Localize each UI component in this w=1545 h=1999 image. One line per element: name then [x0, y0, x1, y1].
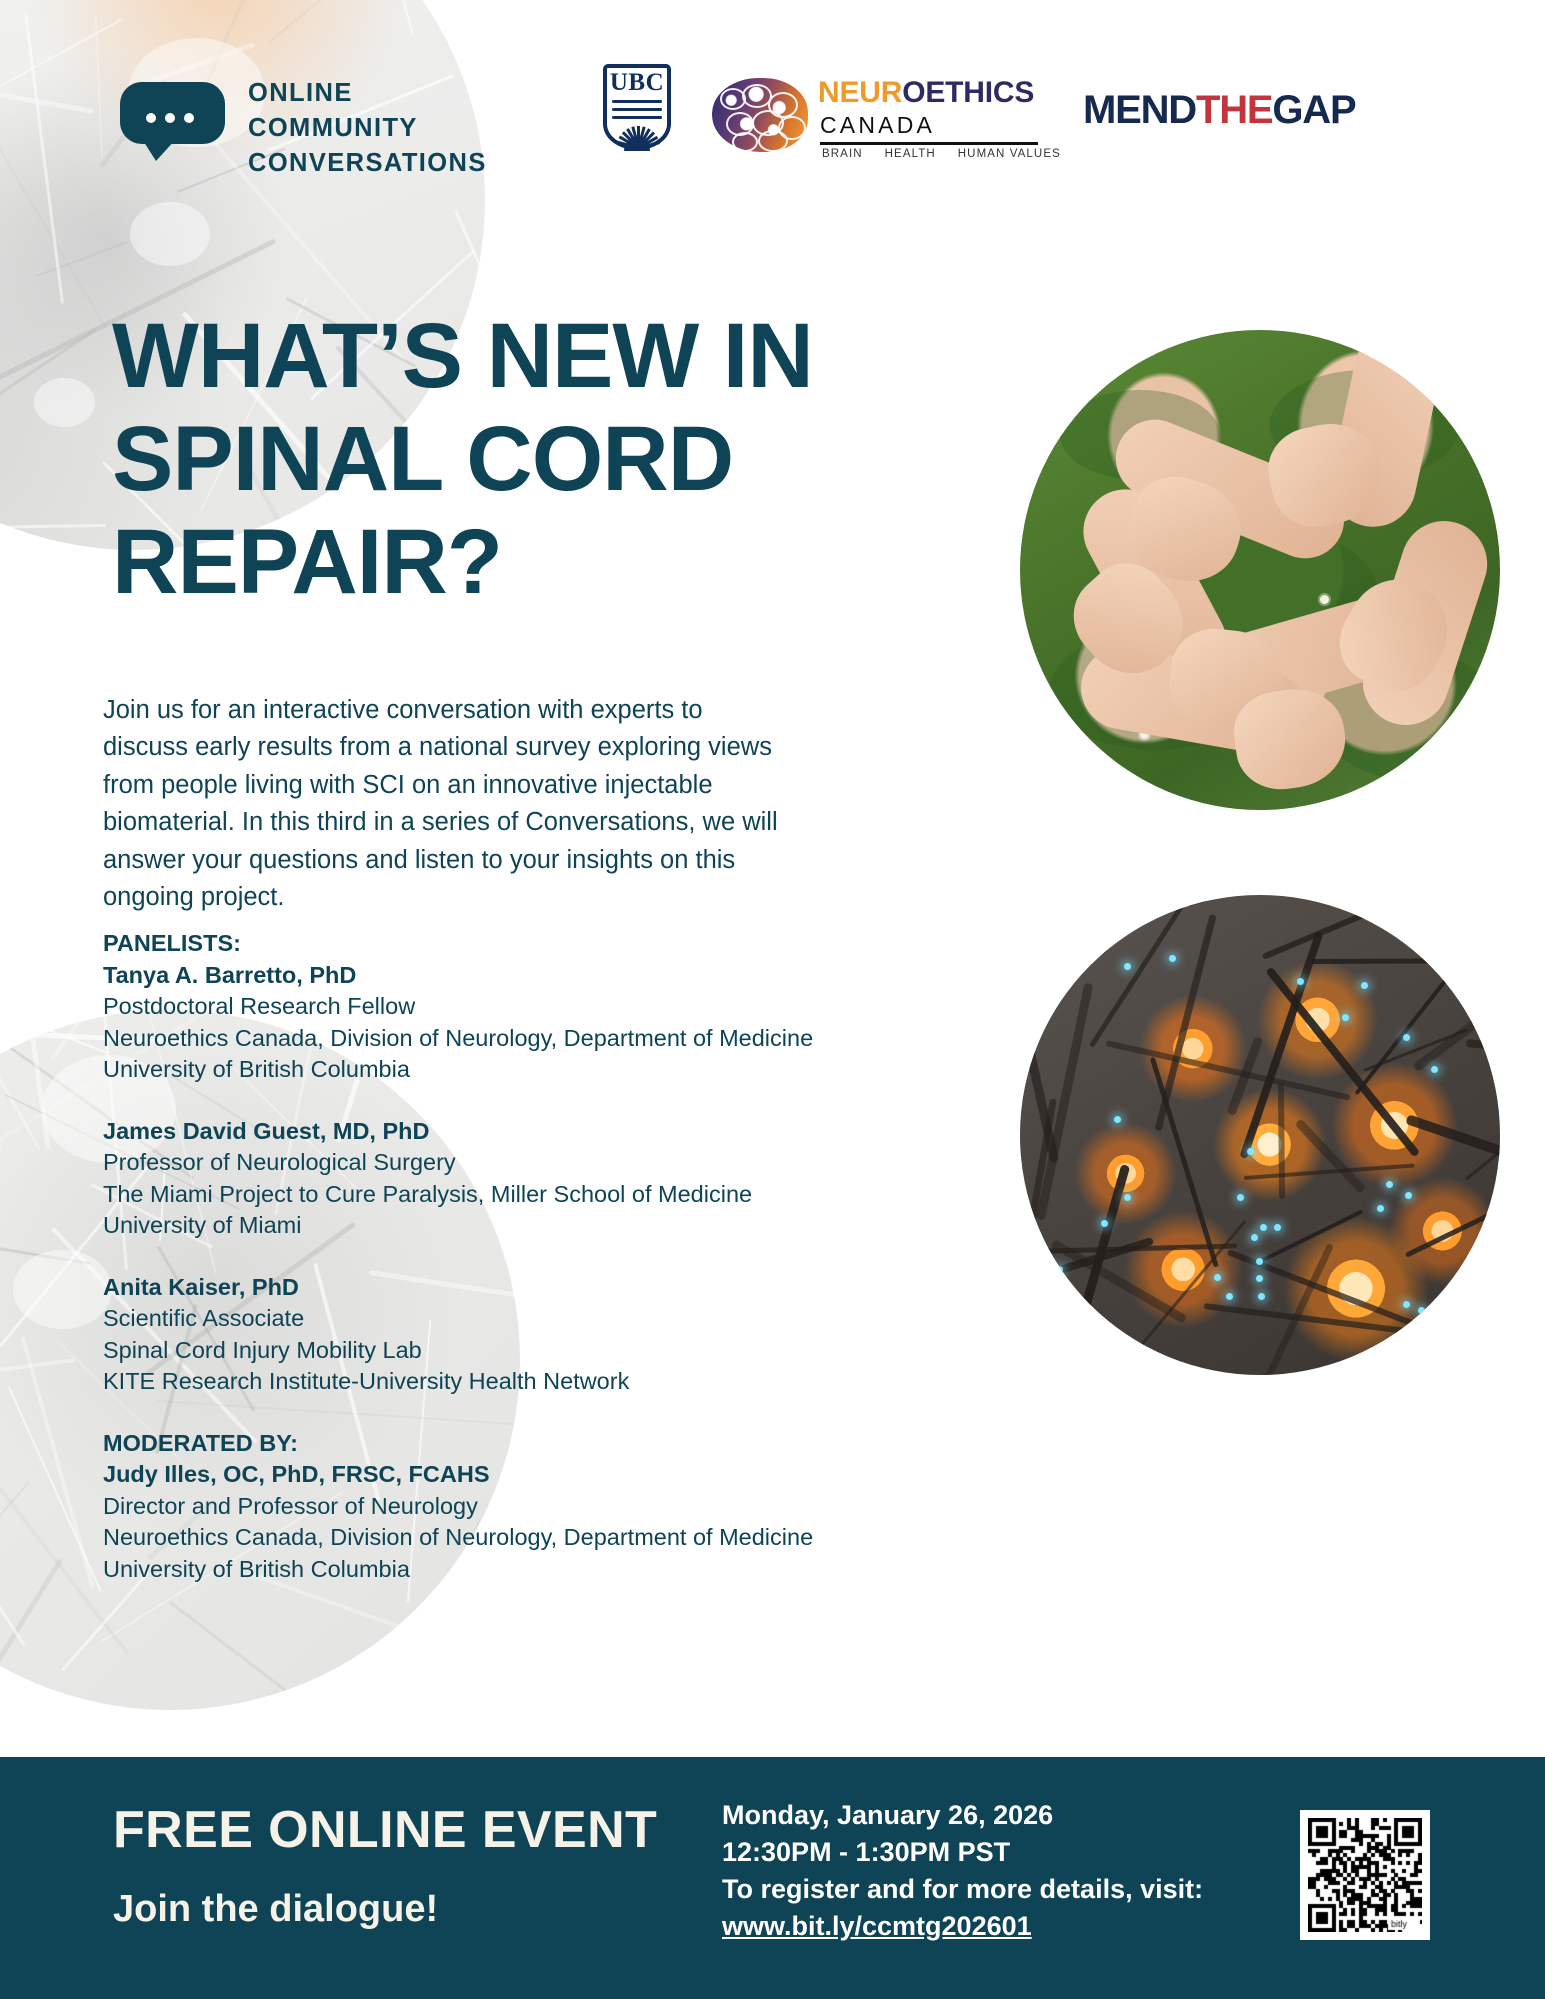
registration-link[interactable]: www.bit.ly/ccmtg202601: [722, 1908, 1203, 1945]
panelist-role: Professor of Neurological Surgery: [103, 1147, 903, 1179]
mtg-the: THE: [1196, 88, 1272, 132]
neuroethics-wordmark: NEUROETHICS: [818, 76, 1034, 110]
event-details: Monday, January 26, 2026 12:30PM - 1:30P…: [722, 1797, 1203, 1945]
panelist-institution: University of Miami: [103, 1210, 903, 1242]
moderator-name: Judy Illes, OC, PhD, FRSC, FCAHS: [103, 1459, 903, 1491]
panelist-institution: University of British Columbia: [103, 1054, 903, 1086]
occ-line-2: COMMUNITY: [248, 111, 487, 146]
panelist-role: Scientific Associate: [103, 1303, 903, 1335]
neuroethics-word-b: OETHICS: [902, 76, 1034, 109]
panelist-institution: KITE Research Institute-University Healt…: [103, 1366, 903, 1398]
photo-glowing-neurons: [1020, 895, 1500, 1375]
neuroethics-word-a: NEUR: [818, 76, 902, 109]
event-date: Monday, January 26, 2026: [722, 1797, 1203, 1834]
event-description: Join us for an interactive conversation …: [103, 692, 793, 917]
panelist-block: James David Guest, MD, PhD Professor of …: [103, 1116, 903, 1242]
page-title: WHAT’S NEW IN SPINAL CORD REPAIR?: [112, 305, 992, 614]
panelist-affiliation: Spinal Cord Injury Mobility Lab: [103, 1335, 903, 1367]
ubc-logo-text: UBC: [603, 69, 671, 97]
logo-header: ONLINE COMMUNITY CONVERSATIONS UBC NEURO…: [0, 0, 1545, 190]
panelist-affiliation: Neuroethics Canada, Division of Neurolog…: [103, 1023, 903, 1055]
panelist-block: Anita Kaiser, PhD Scientific Associate S…: [103, 1272, 903, 1398]
tagline-health: HEALTH: [885, 148, 936, 160]
poster: ONLINE COMMUNITY CONVERSATIONS UBC NEURO…: [0, 0, 1545, 1999]
ellipsis-dots-icon: [146, 113, 194, 123]
moderator-heading: MODERATED BY:: [103, 1428, 903, 1460]
occ-line-1: ONLINE: [248, 76, 487, 111]
ubc-logo: UBC: [603, 64, 671, 150]
moderator-institution: University of British Columbia: [103, 1554, 903, 1586]
mtg-mend: MEND: [1083, 88, 1196, 132]
neuroethics-canada-word: CANADA: [820, 112, 935, 139]
ubc-wave-3: [612, 116, 662, 119]
tagline-brain: BRAIN: [822, 148, 863, 160]
ubc-wave-1: [612, 100, 662, 103]
brain-icon: [712, 78, 808, 152]
photo-interlocked-hands: [1020, 330, 1500, 810]
neuroethics-divider: [820, 142, 1038, 145]
occ-logo-text: ONLINE COMMUNITY CONVERSATIONS: [248, 76, 487, 181]
moderator-affiliation: Neuroethics Canada, Division of Neurolog…: [103, 1522, 903, 1554]
banner-headline: FREE ONLINE EVENT: [113, 1800, 657, 1860]
register-label: To register and for more details, visit:: [722, 1871, 1203, 1908]
mtg-gap: GAP: [1272, 88, 1355, 132]
panelist-name: Anita Kaiser, PhD: [103, 1272, 903, 1304]
banner-subhead: Join the dialogue!: [113, 1888, 438, 1931]
panelist-name: Tanya A. Barretto, PhD: [103, 960, 903, 992]
panelist-affiliation: The Miami Project to Cure Paralysis, Mil…: [103, 1179, 903, 1211]
mend-the-gap-logo: MENDTHEGAP: [1083, 88, 1355, 133]
panelist-block: PANELISTS: Tanya A. Barretto, PhD Postdo…: [103, 928, 903, 1086]
neuroethics-tagline: BRAINHEALTHHUMAN VALUES: [822, 148, 1083, 160]
qr-code[interactable]: [1300, 1810, 1430, 1940]
panelist-role: Postdoctoral Research Fellow: [103, 991, 903, 1023]
online-community-conversations-logo: ONLINE COMMUNITY CONVERSATIONS: [120, 72, 480, 182]
event-time: 12:30PM - 1:30PM PST: [722, 1834, 1203, 1871]
neuroethics-canada-logo: NEUROETHICS CANADA BRAINHEALTHHUMAN VALU…: [712, 72, 1042, 172]
moderator-role: Director and Professor of Neurology: [103, 1491, 903, 1523]
panelist-name: James David Guest, MD, PhD: [103, 1116, 903, 1148]
panelists-heading: PANELISTS:: [103, 928, 903, 960]
speech-bubble-dark-icon: [120, 82, 225, 144]
people-section: PANELISTS: Tanya A. Barretto, PhD Postdo…: [103, 928, 903, 1585]
moderator-block: MODERATED BY: Judy Illes, OC, PhD, FRSC,…: [103, 1428, 903, 1586]
qr-code-canvas[interactable]: [1308, 1818, 1422, 1932]
ubc-wave-2: [612, 108, 662, 111]
occ-line-3: CONVERSATIONS: [248, 146, 487, 181]
tagline-human-values: HUMAN VALUES: [958, 148, 1061, 160]
